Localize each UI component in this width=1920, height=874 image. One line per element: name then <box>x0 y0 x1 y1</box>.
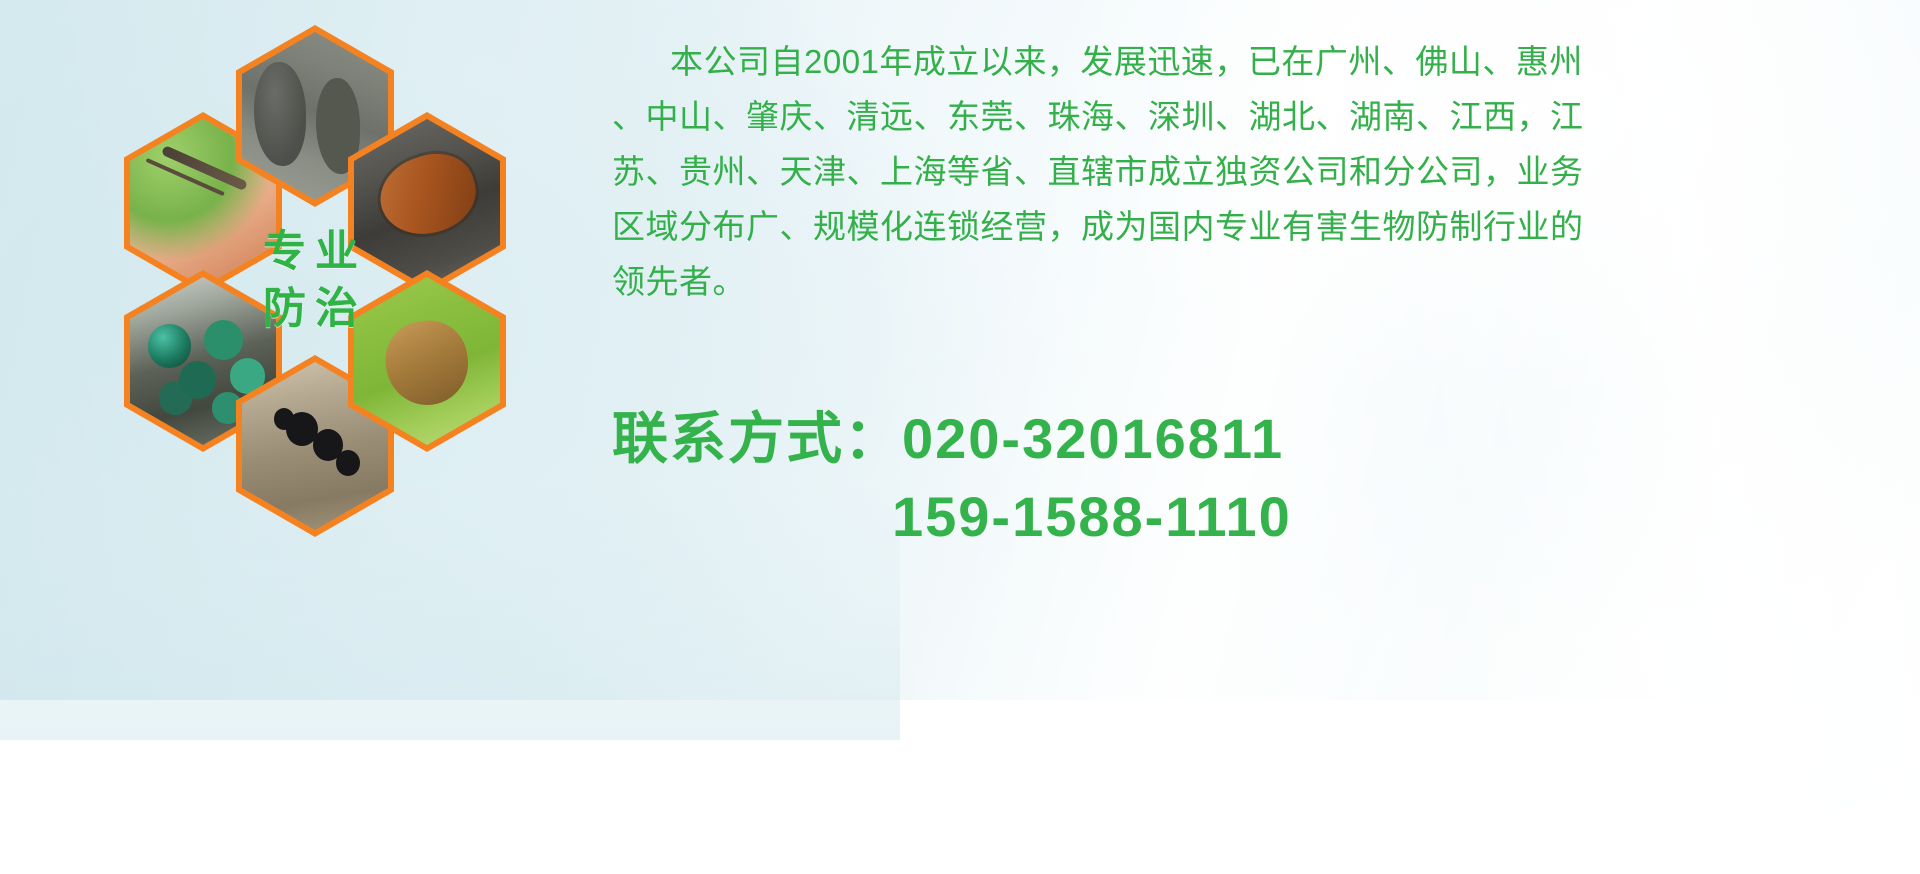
intro-line-1: 本公司自2001年成立以来，发展迅速，已在广州、佛山、惠州 <box>612 34 1892 89</box>
hex-badge-slogan-text: 专业 防治 <box>263 224 367 338</box>
intro-paragraph: 本公司自2001年成立以来，发展迅速，已在广州、佛山、惠州 、中山、肇庆、清远、… <box>612 34 1892 309</box>
contact-phone-mobile[interactable]: 159-1588-1110 <box>612 478 1892 556</box>
hexagon-photo-cluster: 专业 防治 <box>88 0 588 580</box>
intro-line-4: 区域分布广、规模化连锁经营，成为国内专业有害生物防制行业的 <box>612 199 1892 254</box>
intro-line-5: 领先者。 <box>612 254 1892 309</box>
contact-phone-landline[interactable]: 联系方式：020-32016811 <box>612 400 1892 478</box>
promo-banner: 专业 防治 本公司自2001年成立以来，发展迅速，已在广州、佛山、惠州 、中山、… <box>0 0 1920 700</box>
intro-line-3: 苏、贵州、天津、上海等省、直辖市成立独资公司和分公司，业务 <box>612 144 1892 199</box>
contact-block: 联系方式：020-32016811 159-1588-1110 <box>612 400 1892 556</box>
intro-line-2: 、中山、肇庆、清远、东莞、珠海、深圳、湖北、湖南、江西，江 <box>612 89 1892 144</box>
